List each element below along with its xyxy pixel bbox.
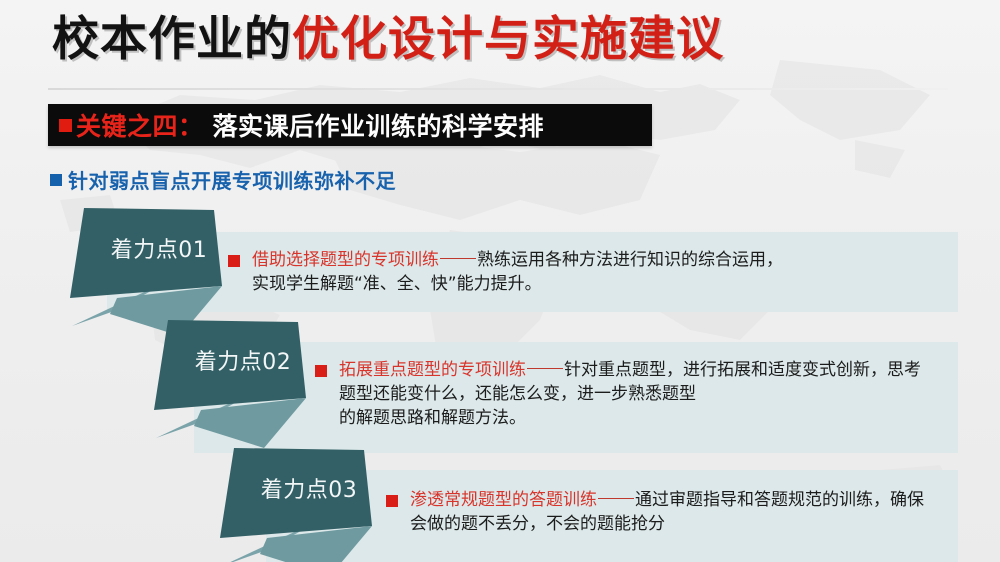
list-item-3-lead: 渗透常规题型的答题训练 [410, 488, 597, 512]
red-square-bullet-icon [386, 495, 398, 507]
focus-tag-1[interactable]: 着力点01 [62, 208, 246, 336]
em-dash-connector-icon [440, 258, 476, 259]
sub-heading-text: 针对弱点盲点开展专项训练弥补不足 [68, 165, 396, 194]
list-item-1: 借助选择题型的专项训练 熟练运用各种方法进行知识的综合运用， 实现学生解题“准、… [228, 248, 783, 296]
list-item-1-lead: 借助选择题型的专项训练 [252, 248, 439, 272]
sub-heading: 针对弱点盲点开展专项训练弥补不足 [50, 165, 396, 194]
page-title-black: 校本作业的 [52, 12, 292, 67]
focus-tag-3[interactable]: 着力点03 [212, 448, 396, 562]
title-divider [48, 88, 948, 90]
list-item-3: 渗透常规题型的答题训练 通过审题指导和答题规范的训练，确保 会做的题不丢分，不会… [386, 488, 924, 536]
em-dash-connector-icon [598, 498, 634, 499]
em-dash-connector-icon [527, 368, 563, 369]
list-item-2-desc-rest: 题型还能变什么，还能怎么变，进一步熟悉题型 的解题思路和解题方法。 [339, 382, 921, 430]
page-title-red: 优化设计与实施建议 [292, 12, 724, 67]
banner-key-text: 落实课后作业训练的科学安排 [213, 107, 545, 143]
list-item-2-lead: 拓展重点题型的专项训练 [339, 358, 526, 382]
red-square-bullet-icon [59, 119, 72, 132]
list-item-1-desc-first: 熟练运用各种方法进行知识的综合运用， [477, 248, 783, 272]
page-title: 校本作业的优化设计与实施建议 [52, 14, 724, 66]
key-point-banner: 关键之四： 落实课后作业训练的科学安排 [48, 104, 652, 146]
list-item-2: 拓展重点题型的专项训练 针对重点题型，进行拓展和适度变式创新，思考 题型还能变什… [315, 358, 921, 430]
red-square-bullet-icon [228, 255, 240, 267]
list-item-3-desc-first: 通过审题指导和答题规范的训练，确保 [635, 488, 924, 512]
list-item-1-desc-rest: 实现学生解题“准、全、快”能力提升。 [252, 272, 783, 296]
blue-square-bullet-icon [50, 174, 62, 186]
list-item-3-desc-rest: 会做的题不丢分，不会的题能抢分 [410, 512, 924, 536]
focus-tag-2[interactable]: 着力点02 [146, 320, 330, 448]
list-item-2-desc-first: 针对重点题型，进行拓展和适度变式创新，思考 [564, 358, 921, 382]
red-square-bullet-icon [315, 365, 327, 377]
banner-key-label: 关键之四： [76, 107, 204, 143]
slide-canvas: 校本作业的优化设计与实施建议 关键之四： 落实课后作业训练的科学安排 针对弱点盲… [0, 0, 1000, 562]
